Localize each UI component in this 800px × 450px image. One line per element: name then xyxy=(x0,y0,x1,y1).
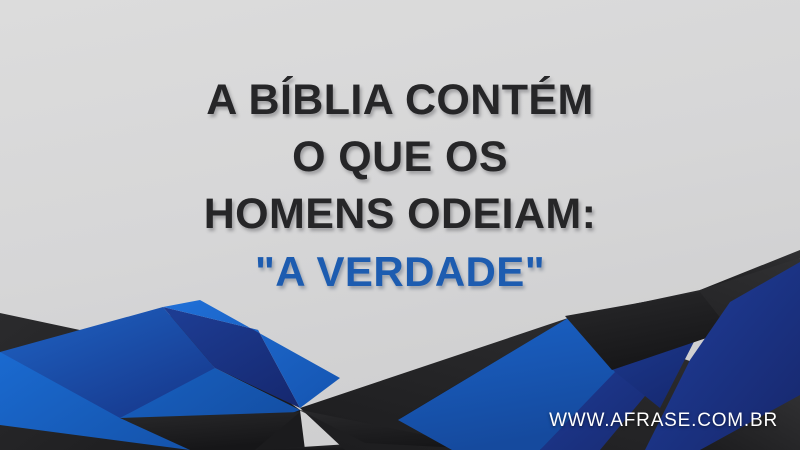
quote-line-4-highlight: "A VERDADE" xyxy=(0,243,800,300)
quote-text-block: A BÍBLIA CONTÉM O QUE OS HOMENS ODEIAM: … xyxy=(0,72,800,300)
quote-line-3: HOMENS ODEIAM: xyxy=(0,186,800,243)
website-url-label: WWW.AFRASE.COM.BR xyxy=(549,410,778,432)
quote-line-1: A BÍBLIA CONTÉM xyxy=(0,72,800,129)
quote-line-2: O QUE OS xyxy=(0,129,800,186)
poster-canvas: A BÍBLIA CONTÉM O QUE OS HOMENS ODEIAM: … xyxy=(0,0,800,450)
